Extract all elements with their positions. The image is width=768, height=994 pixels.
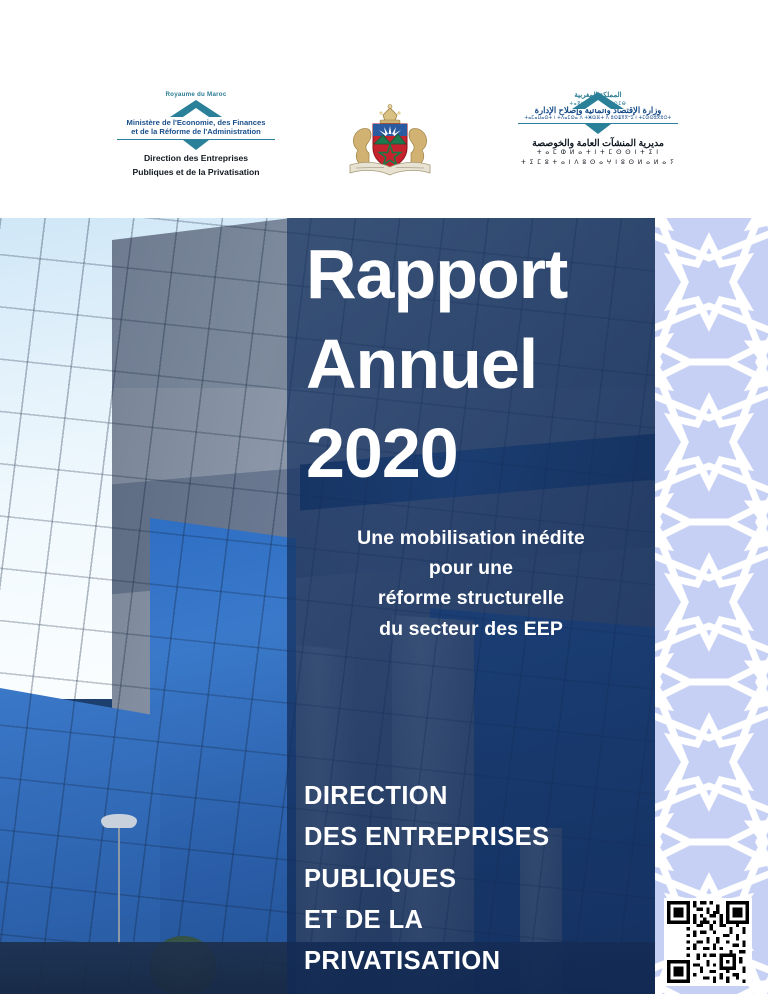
chevron-down-icon [108, 140, 284, 151]
report-title-year: 2020 [306, 409, 656, 499]
ministry-name-fr-line1: Ministère de l'Economie, des Finances [108, 118, 284, 128]
issuing-department-line2: DES ENTREPRISES [304, 817, 654, 858]
issuing-department-line5: PRIVATISATION [304, 941, 654, 982]
report-subtitle-line2: pour une [292, 553, 650, 583]
kingdom-label-fr: Royaume du Maroc [108, 92, 284, 99]
report-subtitle: Une mobilisation inédite pour une réform… [292, 523, 650, 644]
report-title: Rapport Annuel 2020 [306, 230, 656, 499]
issuing-department-line1: DIRECTION [304, 776, 654, 817]
report-subtitle-line3: réforme structurelle [292, 583, 650, 613]
department-name-ar: مديرية المنشآت العامة والخوصصة [512, 138, 684, 148]
issuing-department-line3: PUBLIQUES [304, 859, 654, 900]
ministry-logo-ar: المملكة المغربية ⵜⴰⴳⵍⴷⵉⵜ ⵏ ⵍⵎⵖⵔⵉⴱ وزارة … [512, 92, 684, 168]
qr-code[interactable] [664, 898, 752, 986]
ministry-name-tifinagh: ⵜⴰⵎⴰⵡⴰⵙⵜ ⵏ ⵜⴷⴰⵎⵙⴰ ⴷ ⵜⵥⵕⴼⵜ ⴷ ⵓⵙⴻⴳⴳⵯⵉ ⵏ ⵜⵎ… [512, 116, 684, 121]
report-subtitle-line4: du secteur des EEP [292, 614, 650, 644]
department-name-fr-line2: Publiques et de la Privatisation [108, 167, 284, 179]
header-band: Royaume du Maroc Ministère de l'Economie… [0, 0, 768, 218]
department-name-tifinagh-line1: ⵜ ⴰ ⵎ ⵀ ⵍ ⴰ ⵜ ⵏ ⵜ ⵎ ⵙ ⵙ ⵏ ⵜ ⵉ ⵏ [512, 149, 684, 158]
report-subtitle-line1: Une mobilisation inédite [292, 523, 650, 553]
ministry-logo-fr: Royaume du Maroc Ministère de l'Economie… [108, 92, 284, 179]
ministry-name-fr-line2: et de la Réforme de l'Administration [108, 127, 284, 137]
report-cover: Royaume du Maroc Ministère de l'Economie… [0, 0, 768, 994]
department-name-tifinagh-line2: ⵜ ⵉ ⵎ ⵓ ⵜ ⴰ ⵏ ⴷ ⵓ ⵙ ⴰ ⵖ ⵏ ⵓ ⵙ ⵍ ⴰ ⵍ ⴰ ⵢ [512, 159, 684, 168]
report-title-line1: Rapport [306, 230, 656, 320]
coat-of-arms-icon [338, 103, 442, 183]
report-title-line2: Annuel [306, 320, 656, 410]
chevron-up-icon [108, 100, 284, 118]
issuing-department: DIRECTION DES ENTREPRISES PUBLIQUES ET D… [304, 776, 654, 982]
chevron-down-icon-ar [512, 124, 684, 135]
cover-text-block: Rapport Annuel 2020 Une mobilisation iné… [0, 218, 768, 994]
department-name-fr-line1: Direction des Entreprises [108, 153, 284, 165]
issuing-department-line4: ET DE LA [304, 900, 654, 941]
